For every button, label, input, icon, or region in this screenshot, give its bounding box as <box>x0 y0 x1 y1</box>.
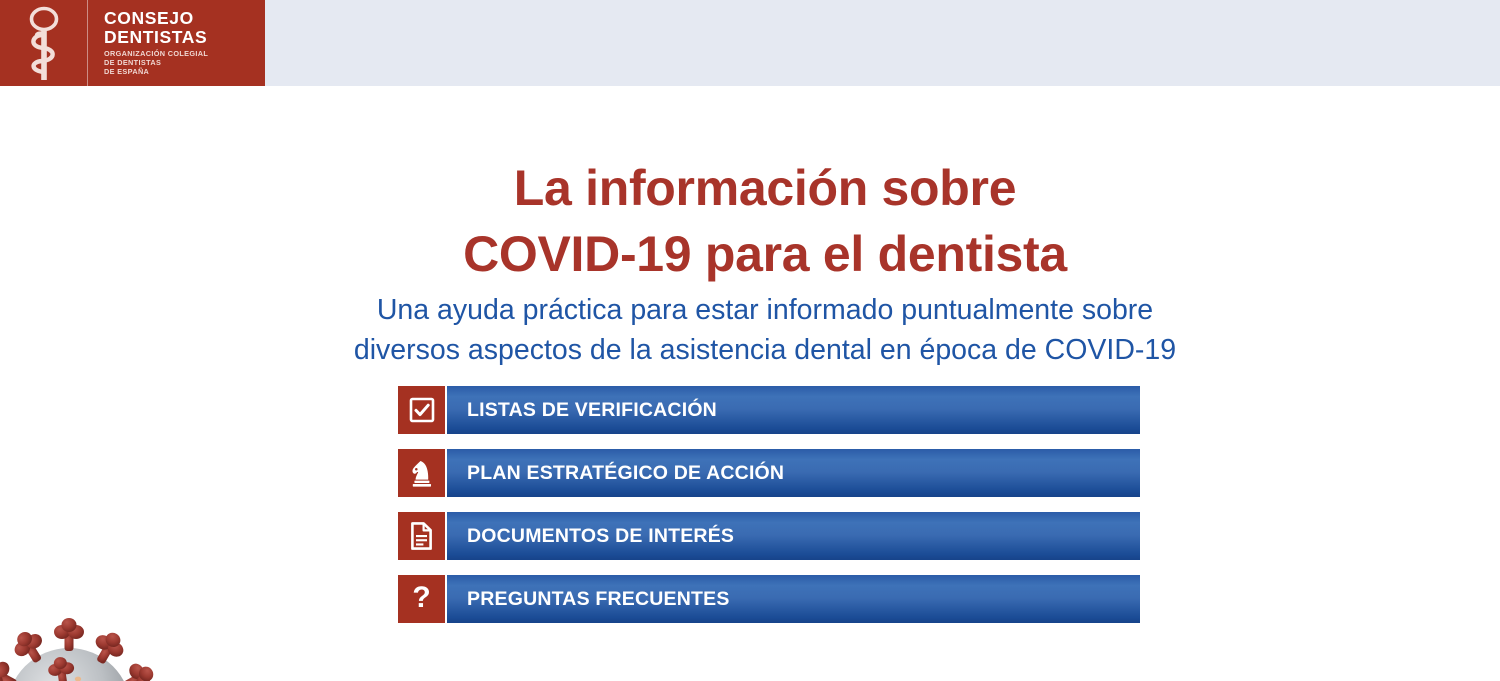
logo-line-dentistas: DENTISTAS <box>104 28 265 47</box>
nav-button-documentos-de-interes[interactable]: DOCUMENTOS DE INTERÉS <box>398 512 1140 560</box>
navigation-button-list: LISTAS DE VERIFICACIÓN PLAN ESTRATÉGICO … <box>398 386 1140 638</box>
page-subtitle-line-1: Una ayuda práctica para estar informado … <box>240 290 1290 330</box>
logo-line-consejo: CONSEJO <box>104 9 265 28</box>
checkbox-checked-icon <box>398 386 445 434</box>
chess-knight-icon <box>398 449 445 497</box>
nav-button-label: DOCUMENTOS DE INTERÉS <box>467 525 734 548</box>
nav-button-bar[interactable]: LISTAS DE VERIFICACIÓN <box>445 386 1140 434</box>
asclepius-rod-icon <box>0 0 88 86</box>
page-subtitle: Una ayuda práctica para estar informado … <box>240 290 1290 370</box>
nav-button-preguntas-frecuentes[interactable]: ? PREGUNTAS FRECUENTES <box>398 575 1140 623</box>
nav-button-bar[interactable]: PLAN ESTRATÉGICO DE ACCIÓN <box>445 449 1140 497</box>
page-title-line-1: La información sobre <box>240 155 1290 221</box>
document-icon <box>398 512 445 560</box>
nav-button-bar[interactable]: PREGUNTAS FRECUENTES <box>445 575 1140 623</box>
logo-subtitle-line-2: DE DENTISTAS <box>104 58 265 67</box>
nav-button-label: PREGUNTAS FRECUENTES <box>467 588 730 611</box>
page-subtitle-line-2: diversos aspectos de la asistencia denta… <box>240 330 1290 370</box>
logo-subtitle-line-3: DE ESPAÑA <box>104 67 265 76</box>
nav-button-label: LISTAS DE VERIFICACIÓN <box>467 399 717 422</box>
nav-button-label: PLAN ESTRATÉGICO DE ACCIÓN <box>467 462 784 485</box>
nav-button-plan-estrategico-de-accion[interactable]: PLAN ESTRATÉGICO DE ACCIÓN <box>398 449 1140 497</box>
main-content: La información sobre COVID-19 para el de… <box>0 86 1500 681</box>
page-title: La información sobre COVID-19 para el de… <box>240 155 1290 287</box>
site-logo[interactable]: CONSEJO DENTISTAS ORGANIZACIÓN COLEGIAL … <box>0 0 265 86</box>
page-root: CONSEJO DENTISTAS ORGANIZACIÓN COLEGIAL … <box>0 0 1500 681</box>
nav-button-listas-de-verificacion[interactable]: LISTAS DE VERIFICACIÓN <box>398 386 1140 434</box>
nav-button-bar[interactable]: DOCUMENTOS DE INTERÉS <box>445 512 1140 560</box>
site-header: CONSEJO DENTISTAS ORGANIZACIÓN COLEGIAL … <box>0 0 1500 86</box>
logo-subtitle-line-1: ORGANIZACIÓN COLEGIAL <box>104 49 265 58</box>
logo-subtitle: ORGANIZACIÓN COLEGIAL DE DENTISTAS DE ES… <box>104 49 265 77</box>
question-mark-icon: ? <box>398 575 445 623</box>
logo-wordmark: CONSEJO DENTISTAS ORGANIZACIÓN COLEGIAL … <box>88 0 265 86</box>
page-title-line-2: COVID-19 para el dentista <box>240 221 1290 287</box>
question-mark-glyph: ? <box>412 583 430 615</box>
